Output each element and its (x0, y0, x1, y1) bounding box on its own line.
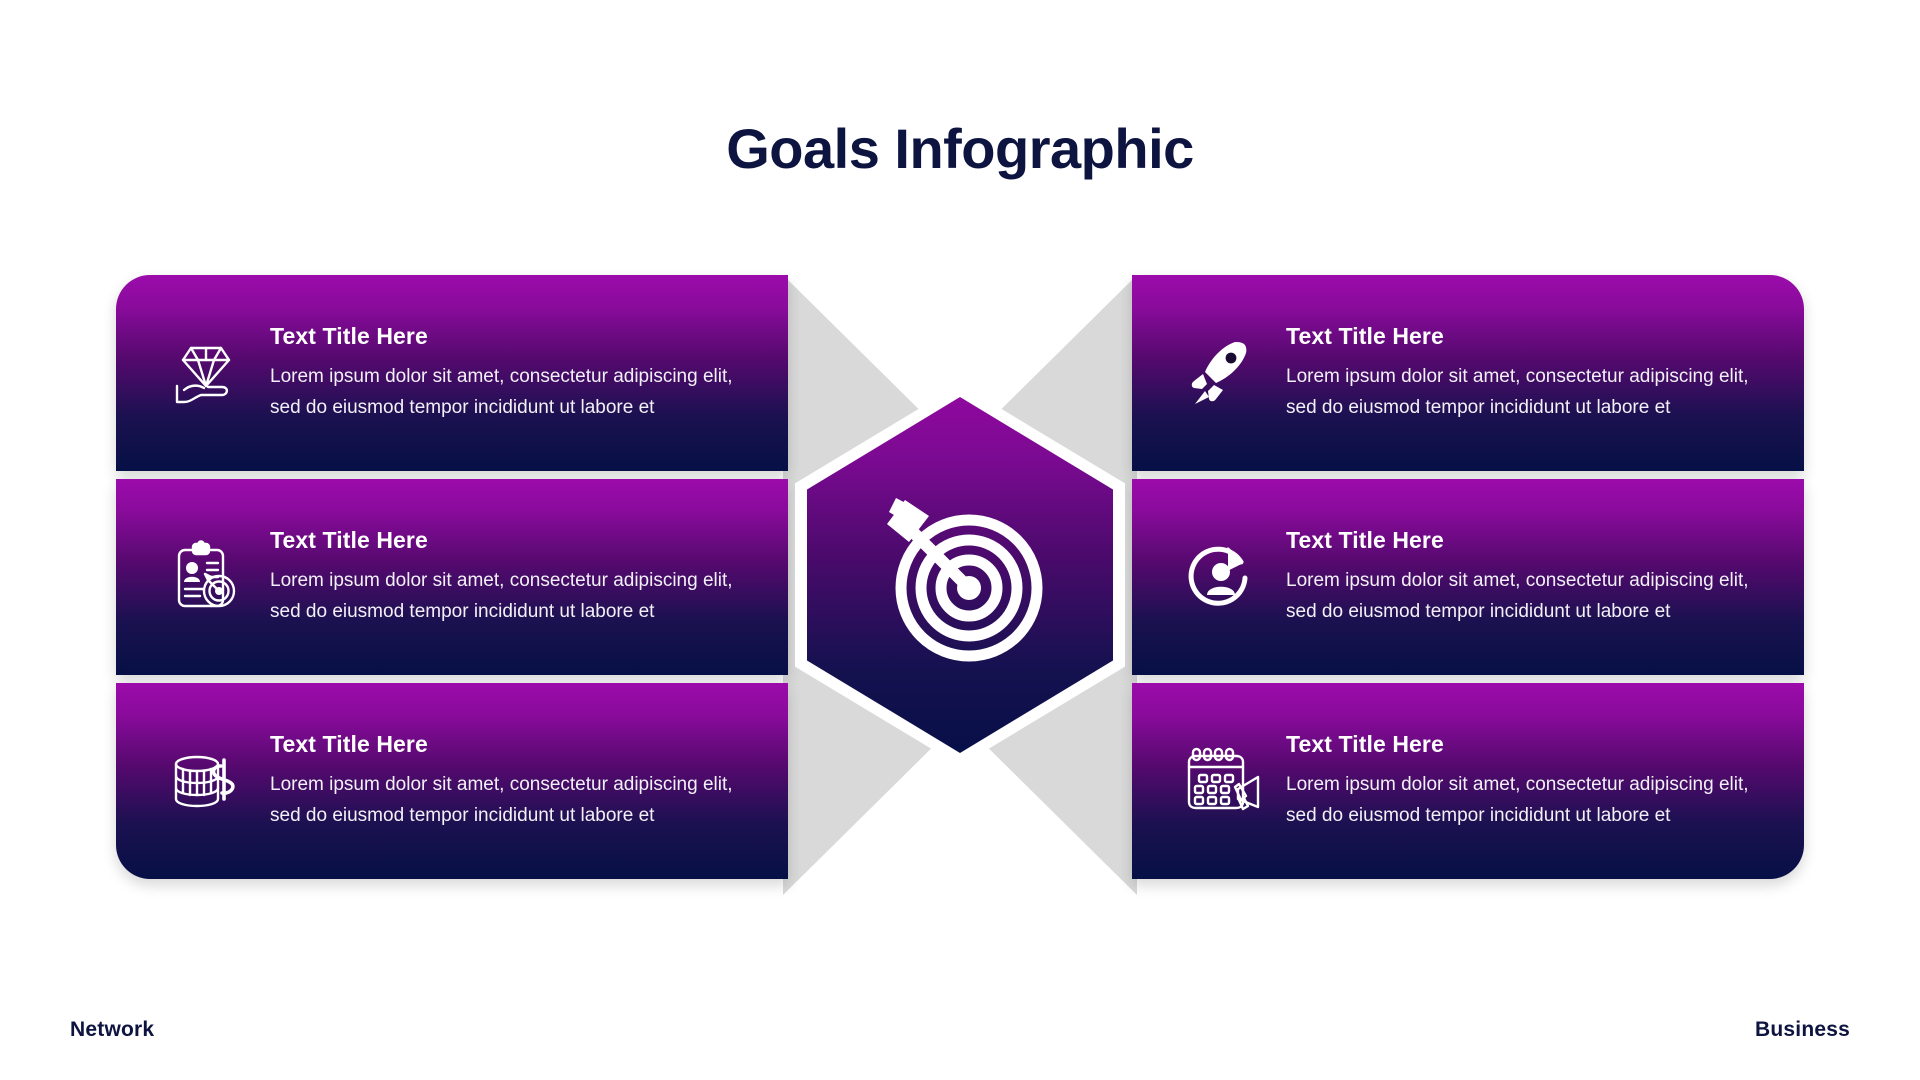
card-right-2[interactable]: Text Title Here Lorem ipsum dolor sit am… (1132, 479, 1804, 675)
card-left-2[interactable]: Text Title Here Lorem ipsum dolor sit am… (116, 479, 788, 675)
card-title: Text Title Here (270, 731, 748, 758)
card-right-1[interactable]: Text Title Here Lorem ipsum dolor sit am… (1132, 275, 1804, 471)
card-body: Lorem ipsum dolor sit amet, consectetur … (270, 566, 740, 628)
card-title: Text Title Here (1286, 527, 1764, 554)
coins-dollar-icon (146, 742, 266, 820)
target-arrow-icon (865, 480, 1055, 670)
card-body: Lorem ipsum dolor sit amet, consectetur … (1286, 566, 1756, 628)
card-title: Text Title Here (270, 323, 748, 350)
card-body: Lorem ipsum dolor sit amet, consectetur … (1286, 770, 1756, 832)
diamond-in-hand-icon (146, 334, 266, 412)
card-left-1-text: Text Title Here Lorem ipsum dolor sit am… (270, 323, 788, 424)
page-title: Goals Infographic (0, 118, 1920, 180)
card-left-3[interactable]: Text Title Here Lorem ipsum dolor sit am… (116, 683, 788, 879)
user-retention-icon (1162, 538, 1282, 616)
card-right-3[interactable]: Text Title Here Lorem ipsum dolor sit am… (1132, 683, 1804, 879)
card-left-1[interactable]: Text Title Here Lorem ipsum dolor sit am… (116, 275, 788, 471)
card-title: Text Title Here (1286, 323, 1764, 350)
right-card-column: Text Title Here Lorem ipsum dolor sit am… (1132, 275, 1804, 879)
card-right-1-text: Text Title Here Lorem ipsum dolor sit am… (1286, 323, 1804, 424)
card-left-2-text: Text Title Here Lorem ipsum dolor sit am… (270, 527, 788, 628)
card-body: Lorem ipsum dolor sit amet, consectetur … (1286, 362, 1756, 424)
footer-left-label: Network (70, 1018, 154, 1080)
clipboard-target-icon (146, 538, 266, 616)
infographic-slide: Goals Infographic (0, 0, 1920, 1080)
card-left-3-text: Text Title Here Lorem ipsum dolor sit am… (270, 731, 788, 832)
footer-right-label: Business (1755, 1018, 1850, 1080)
card-body: Lorem ipsum dolor sit amet, consectetur … (270, 362, 740, 424)
left-card-column: Text Title Here Lorem ipsum dolor sit am… (116, 275, 788, 879)
calendar-megaphone-icon (1162, 742, 1282, 820)
card-right-3-text: Text Title Here Lorem ipsum dolor sit am… (1286, 731, 1804, 832)
card-title: Text Title Here (1286, 731, 1764, 758)
card-title: Text Title Here (270, 527, 748, 554)
card-body: Lorem ipsum dolor sit amet, consectetur … (270, 770, 740, 832)
rocket-icon (1162, 334, 1282, 412)
center-hexagon[interactable] (795, 384, 1125, 766)
card-right-2-text: Text Title Here Lorem ipsum dolor sit am… (1286, 527, 1804, 628)
